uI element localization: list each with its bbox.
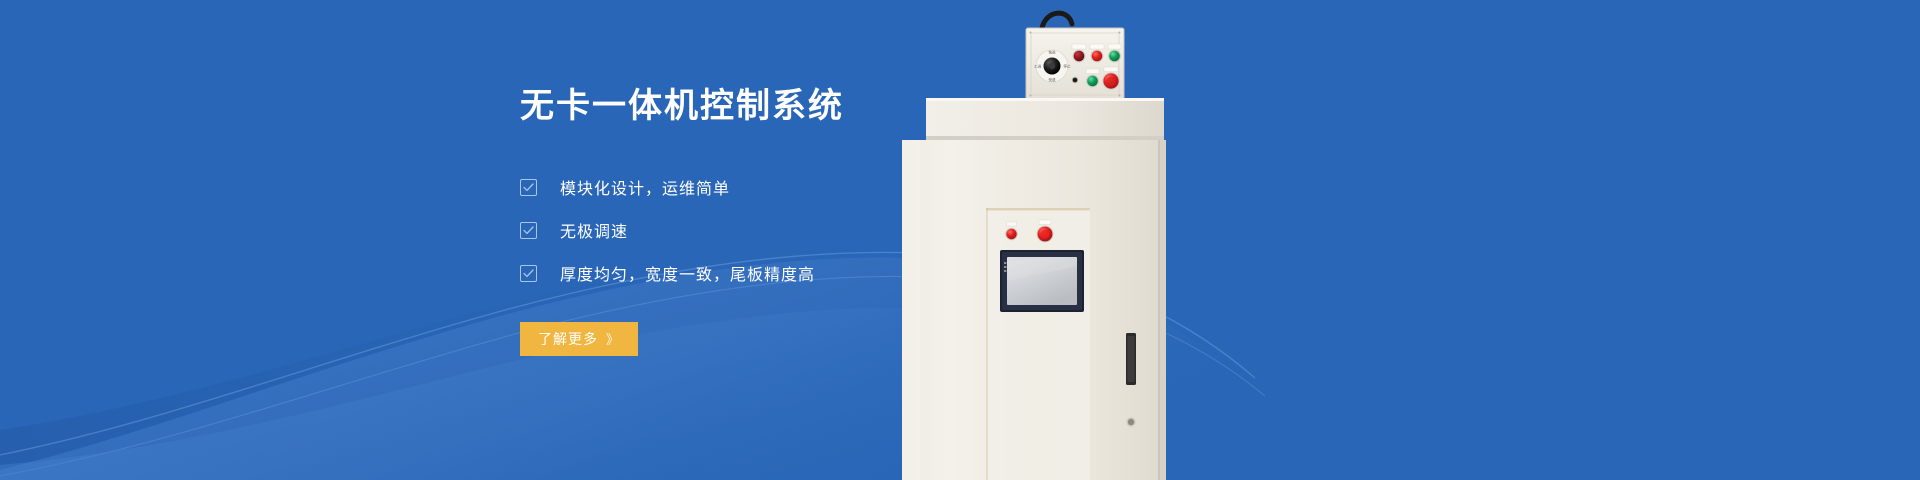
feature-label: 无极调速 (560, 218, 628, 242)
page-title: 无卡一体机控制系统 (520, 86, 1140, 127)
check-icon (520, 222, 537, 239)
list-item: 厚度均匀，宽度一致，尾板精度高 (520, 257, 1140, 290)
chevron-right-icon: 》 (606, 329, 620, 348)
svg-text:停止: 停止 (1063, 64, 1071, 69)
check-icon (520, 265, 537, 282)
hero-content: 无卡一体机控制系统 模块化设计，运维简单 无极调速 (520, 86, 1140, 356)
list-item: 模块化设计，运维简单 (520, 171, 1140, 204)
svg-text:快退: 快退 (1048, 77, 1056, 82)
list-item: 无极调速 (520, 214, 1140, 247)
feature-label: 厚度均匀，宽度一致，尾板精度高 (560, 261, 815, 285)
hero-banner: 快进 工进 停止 快退 (0, 0, 1920, 480)
learn-more-button[interactable]: 了解更多 》 (520, 322, 638, 356)
svg-text:快进: 快进 (1048, 50, 1056, 55)
panel-button-row-top (1072, 44, 1121, 62)
svg-text:工进: 工进 (1034, 64, 1042, 69)
feature-label: 模块化设计，运维简单 (560, 175, 730, 199)
check-icon (520, 179, 537, 196)
learn-more-label: 了解更多 (538, 329, 598, 349)
feature-list: 模块化设计，运维简单 无极调速 厚度均匀，宽度一致，尾板精度高 (520, 171, 1140, 290)
